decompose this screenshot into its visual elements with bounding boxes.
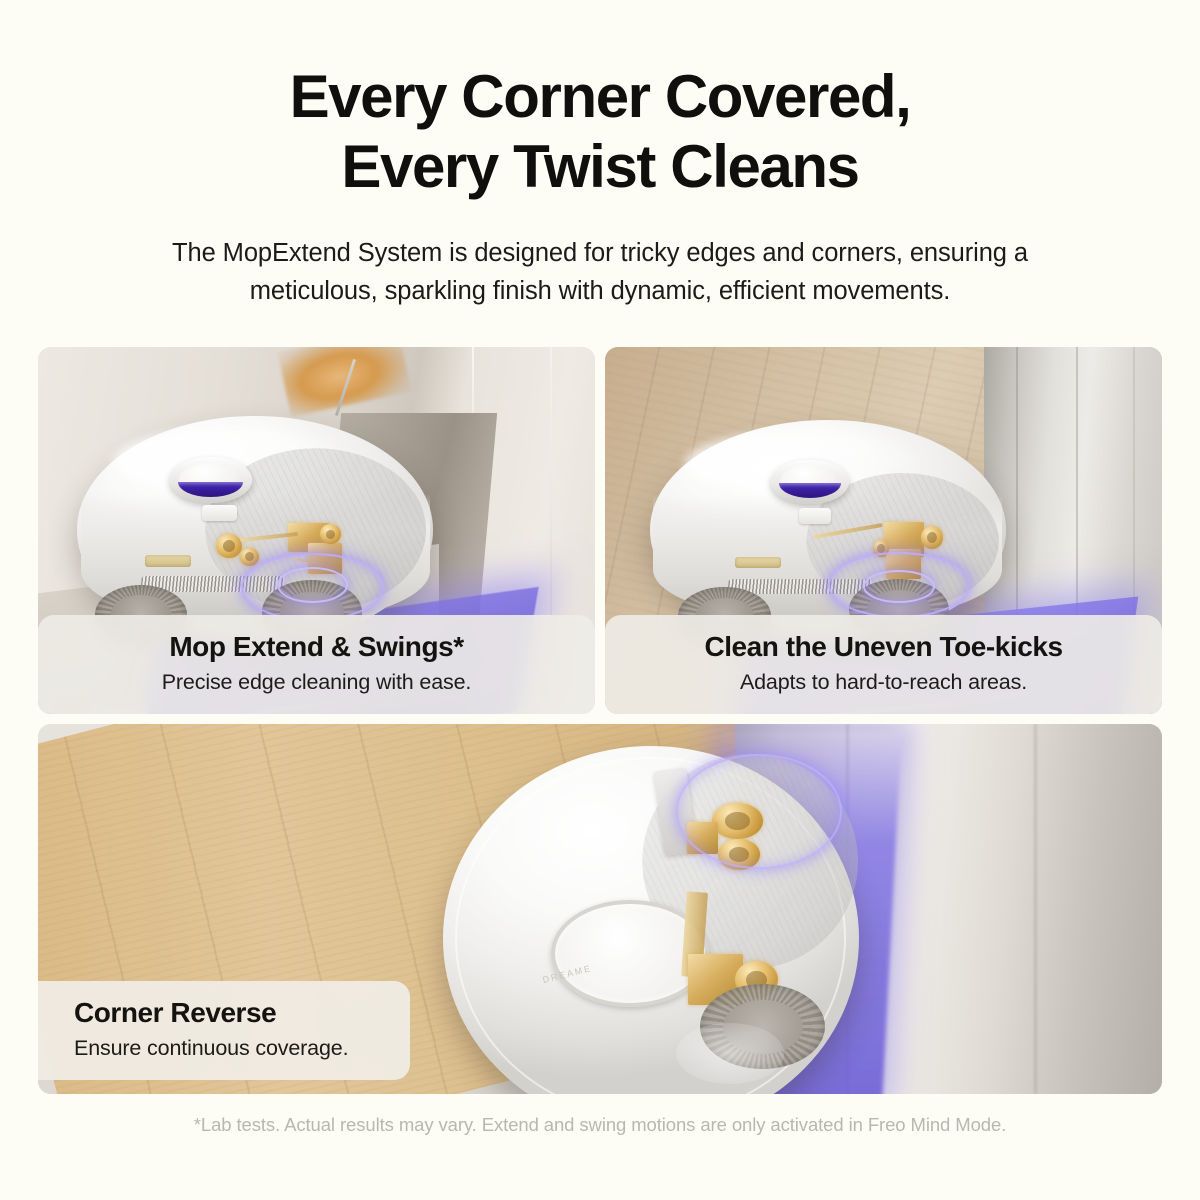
- feature-card-mop-extend-swings[interactable]: Mop Extend & Swings* Precise edge cleani…: [38, 347, 595, 714]
- card-title: Mop Extend & Swings*: [64, 630, 569, 664]
- marketing-page: Every Corner Covered, Every Twist Cleans…: [0, 0, 1200, 1200]
- robot-vacuum: [650, 420, 1006, 640]
- page-subtitle: The MopExtend System is designed for tri…: [95, 235, 1105, 310]
- gear-icon: [921, 526, 943, 550]
- sensor-strip: [145, 555, 191, 566]
- gear-icon: [216, 534, 242, 559]
- mop-swing-halo: [676, 754, 842, 869]
- page-title: Every Corner Covered, Every Twist Cleans: [0, 62, 1200, 201]
- feature-card-row-bottom: DREAME: [38, 724, 1162, 1094]
- power-button-icon[interactable]: [799, 508, 831, 523]
- sensor-strip: [735, 557, 781, 568]
- lidar-turret: [771, 460, 849, 504]
- feature-card-clean-uneven-toe-kicks[interactable]: Clean the Uneven Toe-kicks Adapts to har…: [605, 347, 1162, 714]
- lidar-turret: [170, 457, 252, 503]
- footnote-disclaimer: *Lab tests. Actual results may vary. Ext…: [0, 1114, 1200, 1136]
- card-caption-clean-uneven-toe-kicks: Clean the Uneven Toe-kicks Adapts to har…: [605, 615, 1162, 714]
- card-subtitle: Precise edge cleaning with ease.: [64, 669, 569, 697]
- robot-vacuum: [77, 416, 433, 644]
- lidar-purple-band: [779, 483, 842, 498]
- surface-highlight: [676, 1023, 784, 1085]
- card-subtitle: Ensure continuous coverage.: [74, 1035, 380, 1063]
- gear-icon: [240, 548, 259, 567]
- card-caption-corner-reverse: Corner Reverse Ensure continuous coverag…: [38, 981, 410, 1080]
- mop-swing-halo-inner: [277, 567, 348, 603]
- panel-seam-icon: [1034, 724, 1037, 1094]
- lidar-purple-band: [178, 482, 244, 497]
- mop-swing-halo-inner: [863, 570, 934, 603]
- feature-card-corner-reverse[interactable]: DREAME: [38, 724, 1162, 1094]
- card-caption-mop-extend-swings: Mop Extend & Swings* Precise edge cleani…: [38, 615, 595, 714]
- gear-icon: [320, 524, 341, 544]
- feature-card-grid: Mop Extend & Swings* Precise edge cleani…: [38, 347, 1162, 1094]
- card-title: Corner Reverse: [74, 996, 380, 1030]
- card-title: Clean the Uneven Toe-kicks: [631, 630, 1136, 664]
- robot-vacuum: DREAME: [443, 746, 859, 1094]
- page-header: Every Corner Covered, Every Twist Cleans…: [0, 0, 1200, 311]
- card-subtitle: Adapts to hard-to-reach areas.: [631, 669, 1136, 697]
- feature-card-row-top: Mop Extend & Swings* Precise edge cleani…: [38, 347, 1162, 714]
